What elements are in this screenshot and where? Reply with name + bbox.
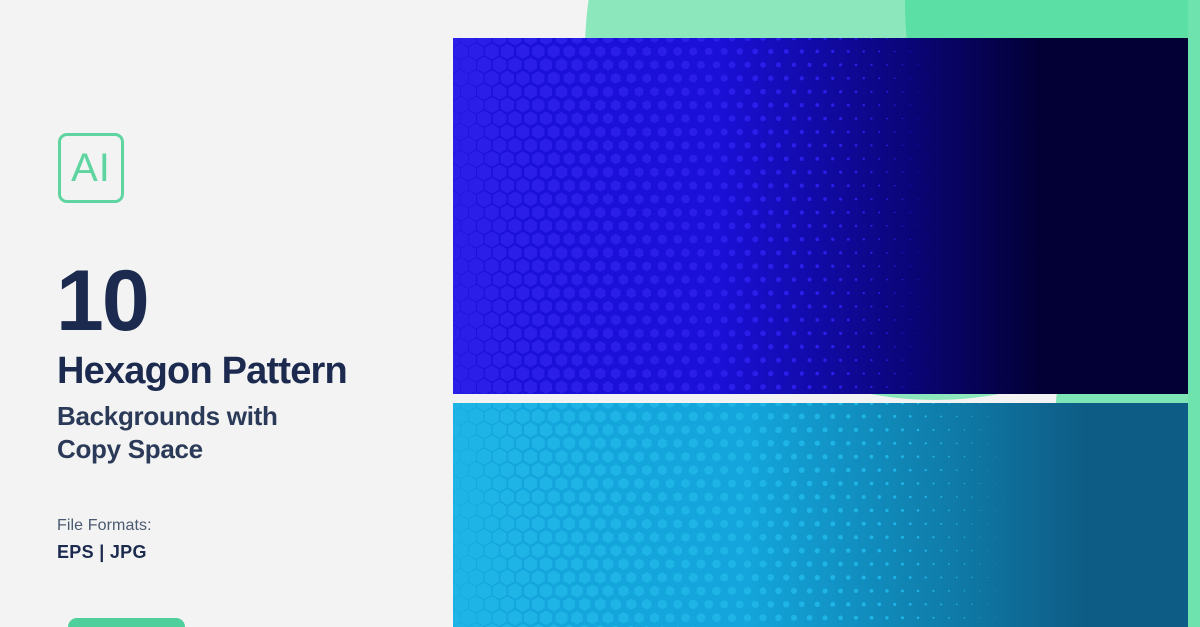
hexagon-banner-cyan	[453, 403, 1188, 627]
page-subtitle: Backgrounds with Copy Space	[57, 400, 278, 467]
download-button[interactable]: Download	[68, 618, 185, 627]
hexagon-banner-blue-graphic	[453, 38, 1188, 394]
decorative-band-right	[1188, 0, 1200, 627]
ai-format-badge: AI	[58, 133, 124, 203]
page-subtitle-line-2: Copy Space	[57, 433, 278, 466]
preview-canvas: AI 10 Hexagon Pattern Backgrounds with C…	[0, 0, 1200, 627]
file-formats-value: EPS | JPG	[57, 542, 147, 563]
hexagon-banner-cyan-graphic	[453, 403, 1188, 627]
page-subtitle-line-1: Backgrounds with	[57, 400, 278, 433]
page-title: Hexagon Pattern	[57, 352, 347, 390]
ai-format-badge-label: AI	[71, 148, 111, 188]
file-formats-label: File Formats:	[57, 517, 152, 535]
hexagon-banner-blue	[453, 38, 1188, 394]
item-count: 10	[56, 258, 148, 344]
info-panel: AI 10 Hexagon Pattern Backgrounds with C…	[0, 0, 453, 627]
